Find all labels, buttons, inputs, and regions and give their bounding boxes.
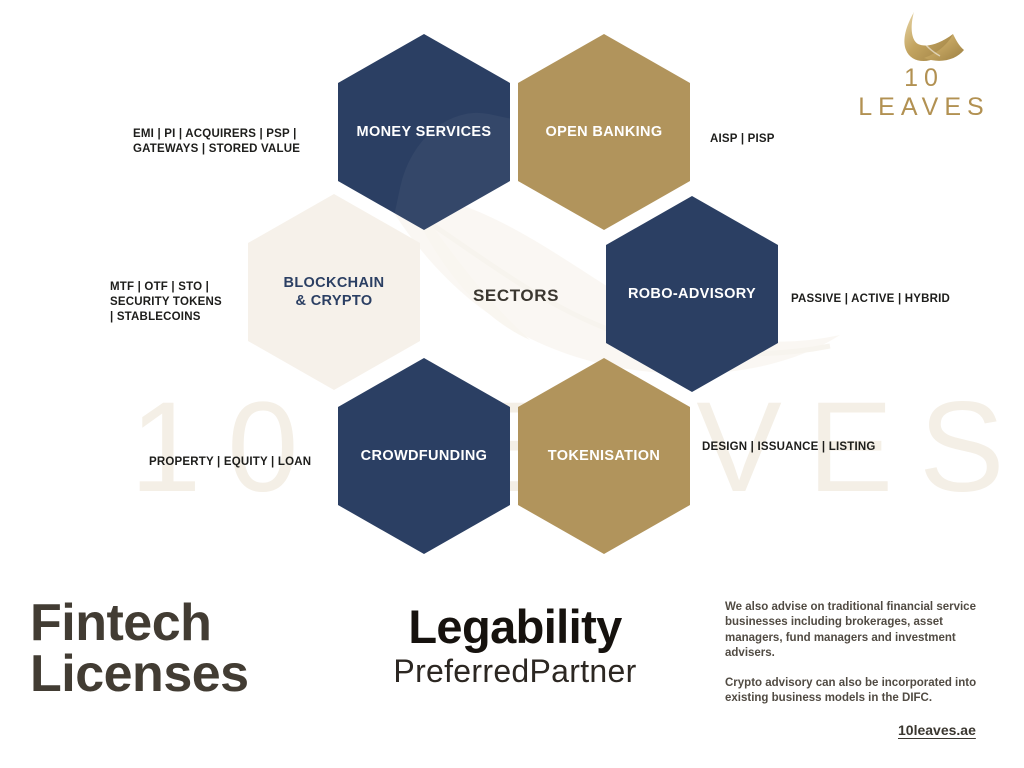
infographic-canvas: 10 LEAVES 10 LEAVES MONEY SERVICES OPEN … [0, 0, 1024, 768]
page-title-line-1: Fintech [30, 598, 360, 649]
advisory-note-paragraph-2: Crypto advisory can also be incorporated… [725, 676, 983, 707]
caption-money-services: EMI | PI | ACQUIRERS | PSP | GATEWAYS | … [133, 127, 323, 157]
hex-label-robo-advisory: ROBO-ADVISORY [618, 285, 766, 303]
partner-brand: Legability PreferredPartner [370, 602, 660, 690]
hex-label-crowdfunding: CROWDFUNDING [351, 447, 498, 465]
caption-open-banking: AISP | PISP [710, 132, 890, 147]
caption-tokenisation: DESIGN | ISSUANCE | LISTING [702, 440, 912, 455]
diagram-center-label: SECTORS [455, 286, 577, 306]
hex-tokenisation[interactable]: TOKENISATION [518, 358, 690, 554]
hex-label-blockchain-crypto: BLOCKCHAIN & CRYPTO [274, 274, 395, 310]
logo-wordmark: 10 LEAVES [836, 64, 1012, 122]
advisory-note-paragraph-1: We also advise on traditional financial … [725, 600, 983, 662]
hex-open-banking[interactable]: OPEN BANKING [518, 34, 690, 230]
hex-label-money-services: MONEY SERVICES [347, 123, 502, 141]
leaf-icon [828, 8, 1018, 68]
page-title: Fintech Licenses [30, 598, 360, 700]
hex-robo-advisory[interactable]: ROBO-ADVISORY [606, 196, 778, 392]
hex-crowdfunding[interactable]: CROWDFUNDING [338, 358, 510, 554]
hex-money-services[interactable]: MONEY SERVICES [338, 34, 510, 230]
partner-name: Legability [370, 602, 660, 651]
caption-crowdfunding: PROPERTY | EQUITY | LOAN [149, 455, 339, 470]
caption-robo-advisory: PASSIVE | ACTIVE | HYBRID [791, 292, 1001, 307]
company-logo: 10 LEAVES [828, 8, 1018, 100]
hex-label-tokenisation: TOKENISATION [538, 447, 670, 465]
partner-tagline: PreferredPartner [370, 653, 660, 690]
advisory-note: We also advise on traditional financial … [725, 600, 983, 706]
hex-label-open-banking: OPEN BANKING [536, 123, 673, 141]
website-link[interactable]: 10leaves.ae [898, 722, 976, 738]
page-title-line-2: Licenses [30, 649, 360, 700]
caption-blockchain-crypto: MTF | OTF | STO | SECURITY TOKENS | STAB… [110, 280, 290, 326]
